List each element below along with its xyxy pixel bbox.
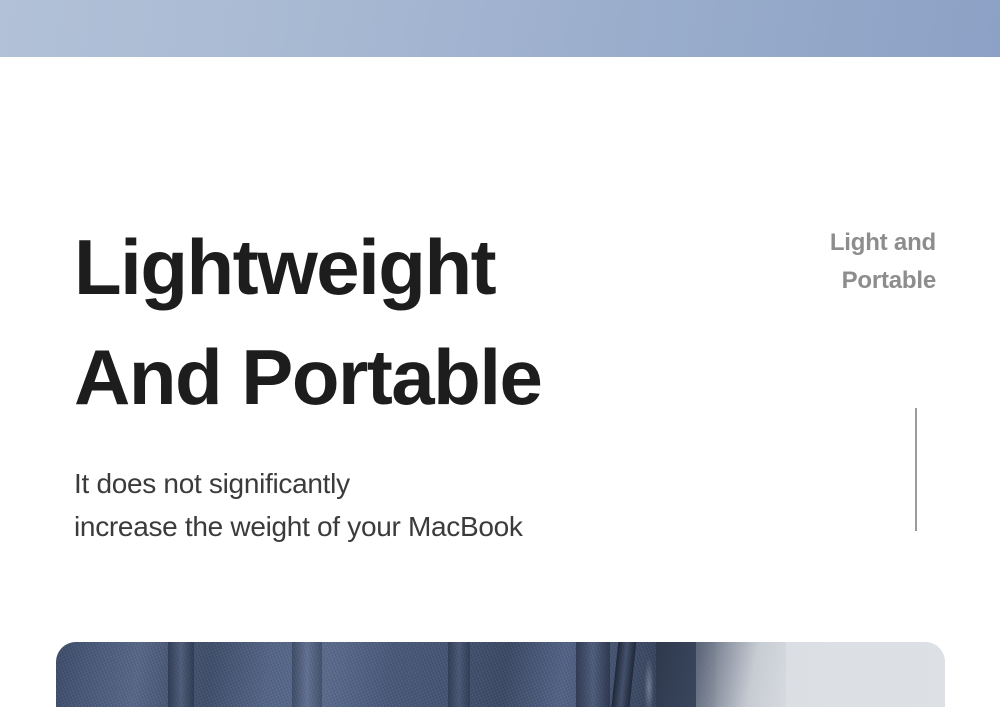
page-title: Lightweight And Portable	[74, 212, 694, 432]
side-caption-line-2: Portable	[696, 262, 936, 300]
side-caption-line-1: Light and	[696, 224, 936, 262]
headline-line-2: And Portable	[74, 322, 694, 432]
fabric-fold	[448, 642, 470, 707]
headline-line-1: Lightweight	[74, 212, 694, 322]
top-gradient-band	[0, 0, 1000, 57]
fabric-fold	[292, 642, 322, 707]
product-photo-panel	[56, 642, 945, 707]
vertical-divider	[915, 408, 917, 531]
fabric-fold	[576, 642, 610, 707]
subtitle-line-2: increase the weight of your MacBook	[74, 505, 694, 548]
fabric-edge-blend	[656, 642, 786, 707]
subtitle: It does not significantly increase the w…	[74, 462, 694, 548]
fabric-fold	[168, 642, 194, 707]
subtitle-line-1: It does not significantly	[74, 462, 694, 505]
side-caption: Light and Portable	[696, 224, 936, 300]
product-feature-banner: Lightweight And Portable It does not sig…	[0, 0, 1000, 707]
